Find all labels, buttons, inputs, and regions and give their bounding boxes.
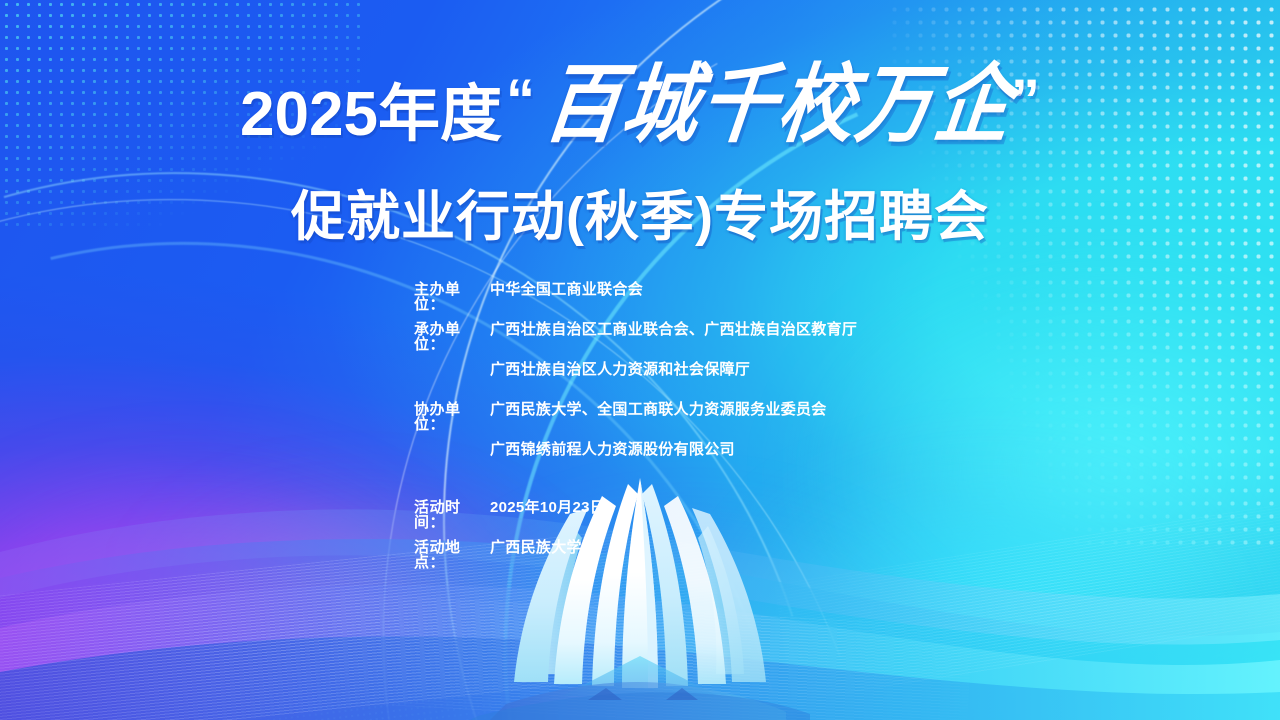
support-label: 协办单位： (414, 402, 490, 432)
cohost-label: 承办单位： (414, 322, 490, 352)
info-row-time: 活动时间： 2025年10月23日 (414, 500, 1054, 530)
info-row-cohost: 承办单位： 广西壮族自治区工商业联合会、广西壮族自治区教育厅 (414, 322, 1054, 352)
support-value-1: 广西民族大学、全国工商联人力资源服务业委员会 (490, 402, 827, 417)
quote-open-icon: “ (506, 72, 535, 152)
time-value: 2025年10月23日 (490, 500, 605, 515)
info-row-support-cont: 协办单位： 广西锦绣前程人力资源股份有限公司 (414, 442, 1054, 472)
info-row-cohost-cont: 承办单位： 广西壮族自治区人力资源和社会保障厅 (414, 362, 1054, 392)
support-value-2: 广西锦绣前程人力资源股份有限公司 (490, 442, 735, 457)
event-info-block: 主办单位： 中华全国工商业联合会 承办单位： 广西壮族自治区工商业联合会、广西壮… (414, 282, 1054, 570)
headline-row: 2025年度 “ 百城千校万企 ” (0, 72, 1280, 152)
headline-subtitle: 促就业行动(秋季)专场招聘会 (0, 172, 1280, 251)
poster-content: 2025年度 “ 百城千校万企 ” 促就业行动(秋季)专场招聘会 主办单位： 中… (0, 0, 1280, 720)
info-spacer (414, 482, 1054, 500)
place-label: 活动地点： (414, 540, 490, 570)
headline-year: 2025年度 (240, 84, 502, 152)
cohost-value-2: 广西壮族自治区人力资源和社会保障厅 (490, 362, 750, 377)
cohost-value-1: 广西壮族自治区工商业联合会、广西壮族自治区教育厅 (490, 322, 857, 337)
place-value: 广西民族大学 (490, 540, 582, 555)
time-label: 活动时间： (414, 500, 490, 530)
info-row-support: 协办单位： 广西民族大学、全国工商联人力资源服务业委员会 (414, 402, 1054, 432)
poster-canvas: 2025年度 “ 百城千校万企 ” 促就业行动(秋季)专场招聘会 主办单位： 中… (0, 0, 1280, 720)
organizer-value: 中华全国工商业联合会 (490, 282, 643, 297)
organizer-label: 主办单位： (414, 282, 490, 312)
info-row-place: 活动地点： 广西民族大学 (414, 540, 1054, 570)
headline-calligraphy: 百城千校万企 (539, 62, 1018, 152)
info-row-organizer: 主办单位： 中华全国工商业联合会 (414, 282, 1054, 312)
